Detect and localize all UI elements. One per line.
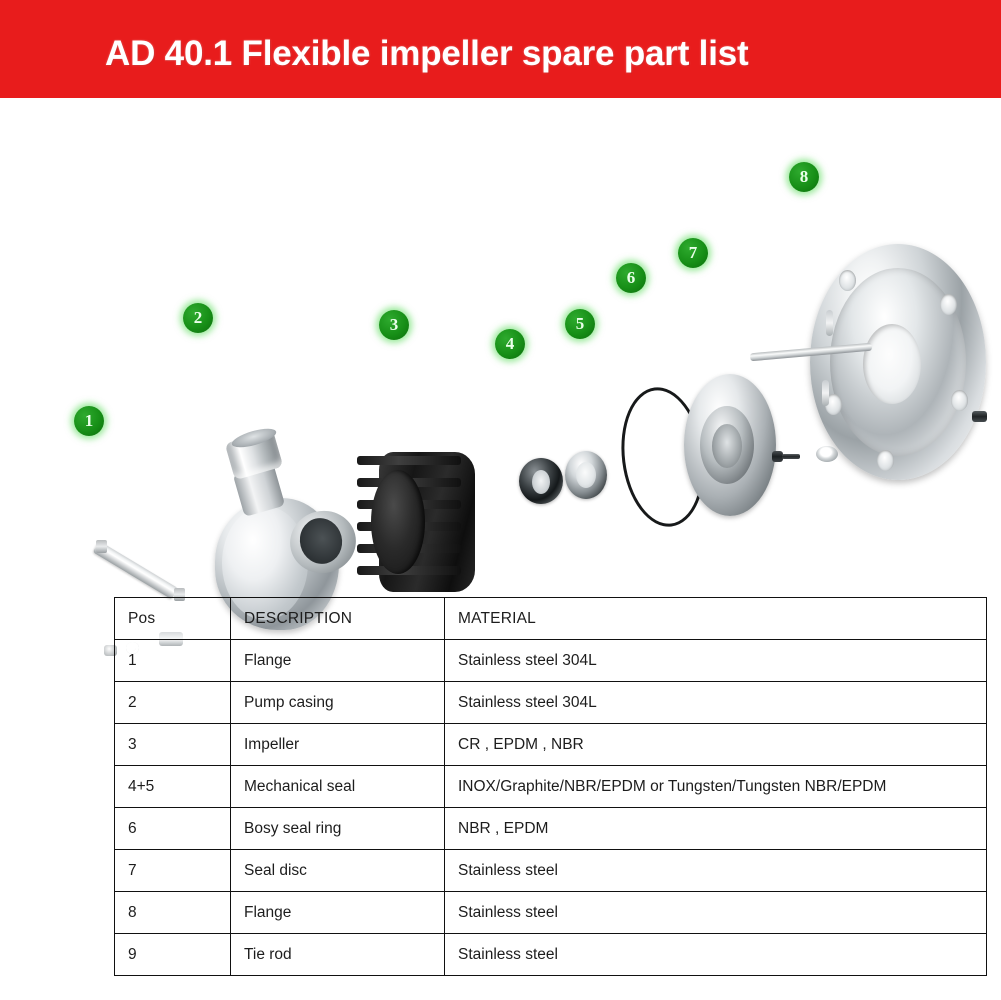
spare-parts-table: Pos DESCRIPTION MATERIAL 1 Flange Stainl… xyxy=(114,597,987,976)
header-cell-pos: Pos xyxy=(115,598,231,640)
callout-badge-8[interactable]: 8 xyxy=(789,162,819,192)
table-header-row: Pos DESCRIPTION MATERIAL xyxy=(115,598,987,640)
table-row: 2 Pump casing Stainless steel 304L xyxy=(115,682,987,724)
flange-slot xyxy=(822,380,829,406)
flange-bolt-hole xyxy=(877,450,894,471)
cell-pos: 6 xyxy=(115,808,231,850)
table-row: 4+5 Mechanical seal INOX/Graphite/NBR/EP… xyxy=(115,766,987,808)
cell-description: Tie rod xyxy=(231,934,445,976)
flange-center-bore xyxy=(863,324,921,404)
callout-badge-2[interactable]: 2 xyxy=(183,303,213,333)
screw-shaft xyxy=(782,454,800,459)
callout-badge-7[interactable]: 7 xyxy=(678,238,708,268)
cell-pos: 8 xyxy=(115,892,231,934)
callout-badge-1[interactable]: 1 xyxy=(74,406,104,436)
cell-pos: 4+5 xyxy=(115,766,231,808)
cell-description: Flange xyxy=(231,892,445,934)
flange-bolt-hole xyxy=(951,390,968,411)
cell-pos: 1 xyxy=(115,640,231,682)
header-cell-material: MATERIAL xyxy=(445,598,987,640)
header-cell-description: DESCRIPTION xyxy=(231,598,445,640)
cell-description: Pump casing xyxy=(231,682,445,724)
cell-description: Mechanical seal xyxy=(231,766,445,808)
cell-pos: 9 xyxy=(115,934,231,976)
seal-ring-steel-bore xyxy=(576,462,596,488)
header-banner: AD 40.1 Flexible impeller spare part lis… xyxy=(0,0,1001,98)
exploded-view-diagram: 1 2 3 4 5 6 7 8 xyxy=(0,98,1001,578)
cell-material: Stainless steel xyxy=(445,850,987,892)
cell-material: CR , EPDM , NBR xyxy=(445,724,987,766)
table-row: 7 Seal disc Stainless steel xyxy=(115,850,987,892)
callout-badge-6[interactable]: 6 xyxy=(616,263,646,293)
cell-pos: 2 xyxy=(115,682,231,724)
callout-badge-3[interactable]: 3 xyxy=(379,310,409,340)
impeller-vane xyxy=(357,456,461,465)
flange-slot xyxy=(826,310,833,336)
cell-description: Bosy seal ring xyxy=(231,808,445,850)
flange-bolt-hole xyxy=(839,270,856,291)
cell-material: Stainless steel xyxy=(445,892,987,934)
cell-material: Stainless steel 304L xyxy=(445,640,987,682)
flange-screw xyxy=(772,451,800,462)
page-title: AD 40.1 Flexible impeller spare part lis… xyxy=(105,34,748,74)
flange-mini-screw xyxy=(972,411,987,422)
cell-material: NBR , EPDM xyxy=(445,808,987,850)
table-row: 3 Impeller CR , EPDM , NBR xyxy=(115,724,987,766)
part-3-impeller xyxy=(357,442,481,602)
table-row: 1 Flange Stainless steel 304L xyxy=(115,640,987,682)
cell-pos: 3 xyxy=(115,724,231,766)
callout-badge-4[interactable]: 4 xyxy=(495,329,525,359)
cell-description: Seal disc xyxy=(231,850,445,892)
spare-part-list-page: AD 40.1 Flexible impeller spare part lis… xyxy=(0,0,1001,1000)
seal-disc-bore xyxy=(712,424,742,468)
impeller-hub xyxy=(371,470,425,574)
cell-material: INOX/Graphite/NBR/EPDM or Tungsten/Tungs… xyxy=(445,766,987,808)
table-row: 6 Bosy seal ring NBR , EPDM xyxy=(115,808,987,850)
seal-ring-carbon-bore xyxy=(532,470,550,494)
callout-badge-5[interactable]: 5 xyxy=(565,309,595,339)
flange-bolt-hole xyxy=(940,294,957,315)
table-row: 8 Flange Stainless steel xyxy=(115,892,987,934)
cell-material: Stainless steel xyxy=(445,934,987,976)
tie-rod-end-left xyxy=(96,540,107,553)
table-row: 9 Tie rod Stainless steel xyxy=(115,934,987,976)
cell-pos: 7 xyxy=(115,850,231,892)
cell-description: Impeller xyxy=(231,724,445,766)
flange-washer xyxy=(816,446,838,462)
cell-material: Stainless steel 304L xyxy=(445,682,987,724)
cell-description: Flange xyxy=(231,640,445,682)
